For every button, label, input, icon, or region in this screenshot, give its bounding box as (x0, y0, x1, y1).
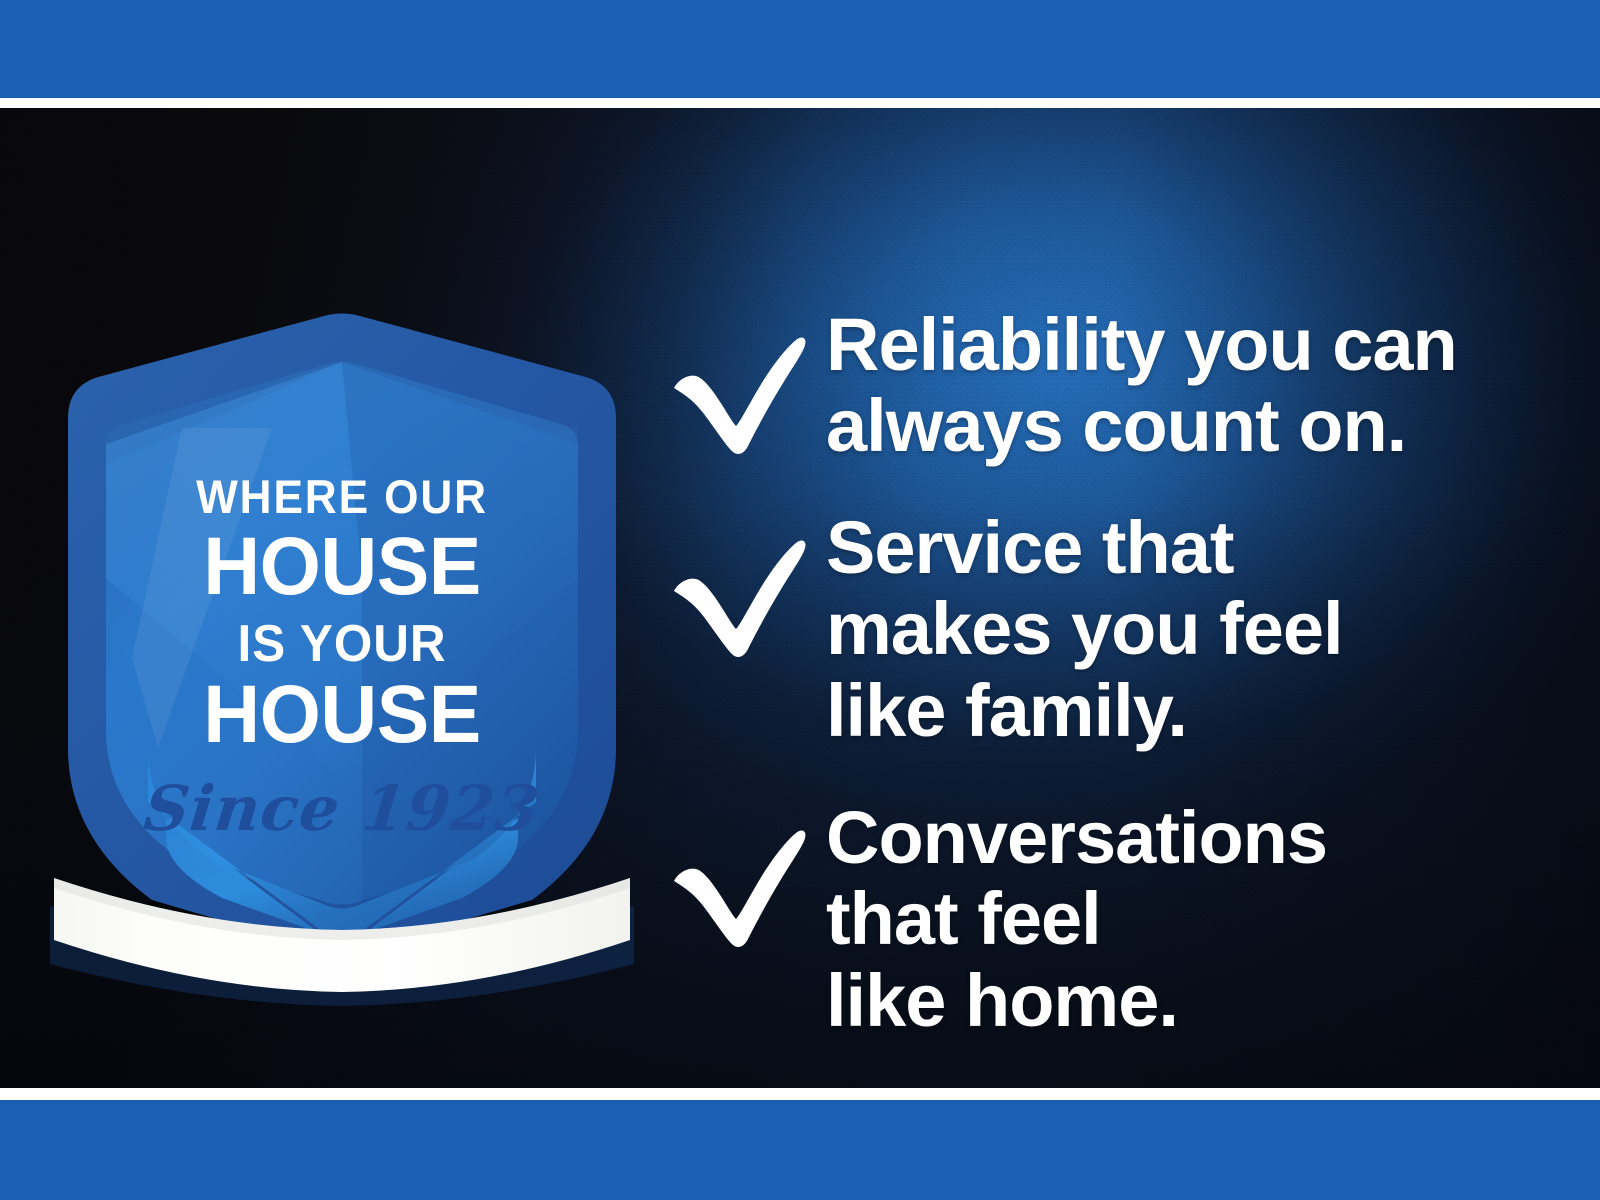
check-icon (668, 819, 808, 951)
benefit-1-line-1: Reliability you can (826, 304, 1457, 385)
benefits-list: Reliability you can always count on. Ser… (668, 304, 1548, 1041)
benefit-3-line-1: Conversations (826, 797, 1327, 878)
benefit-3-line-3: like home. (826, 960, 1327, 1041)
promo-poster: WHERE OUR HOUSE IS YOUR HOUSE Since 1923… (0, 0, 1600, 1200)
benefit-item-2: Service that makes you feel like family. (668, 507, 1548, 751)
benefit-text-2: Service that makes you feel like family. (826, 507, 1343, 751)
benefit-2-line-3: like family. (826, 670, 1343, 751)
benefit-2-line-2: makes you feel (826, 588, 1343, 669)
check-icon (668, 326, 808, 458)
shield-badge: WHERE OUR HOUSE IS YOUR HOUSE Since 1923 (62, 278, 622, 978)
bottom-brand-bar (0, 1100, 1600, 1200)
benefit-item-3: Conversations that feel like home. (668, 797, 1548, 1041)
benefit-2-line-1: Service that (826, 507, 1343, 588)
check-icon (668, 529, 808, 661)
main-content-panel: WHERE OUR HOUSE IS YOUR HOUSE Since 1923… (0, 108, 1600, 1088)
benefit-item-1: Reliability you can always count on. (668, 304, 1548, 467)
benefit-text-1: Reliability you can always count on. (826, 304, 1457, 467)
benefit-text-3: Conversations that feel like home. (826, 797, 1327, 1041)
top-brand-bar (0, 0, 1600, 98)
benefit-1-line-2: always count on. (826, 385, 1457, 466)
benefit-3-line-2: that feel (826, 878, 1327, 959)
